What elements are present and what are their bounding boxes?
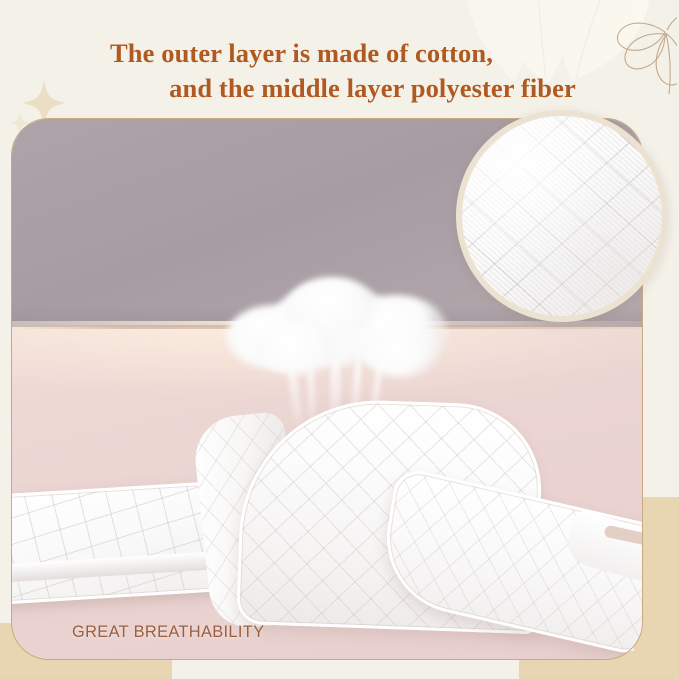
feature-list: GREAT BREATHABILITY SOFT AND COMFORTABLE… bbox=[72, 624, 464, 660]
feature-item: GREAT BREATHABILITY bbox=[72, 624, 464, 640]
steam-cloud bbox=[226, 277, 446, 381]
product-feature-poster: The outer layer is made of cotton, and t… bbox=[0, 0, 679, 679]
fabric-closeup-inset bbox=[456, 110, 668, 322]
headline-line-1: The outer layer is made of cotton, bbox=[0, 36, 679, 71]
headline-line-2: and the middle layer polyester fiber bbox=[0, 71, 679, 106]
steam-puff bbox=[362, 327, 440, 377]
steam-puff bbox=[256, 323, 338, 375]
page-title: The outer layer is made of cotton, and t… bbox=[0, 36, 679, 106]
inset-sheen-overlay bbox=[462, 116, 662, 316]
